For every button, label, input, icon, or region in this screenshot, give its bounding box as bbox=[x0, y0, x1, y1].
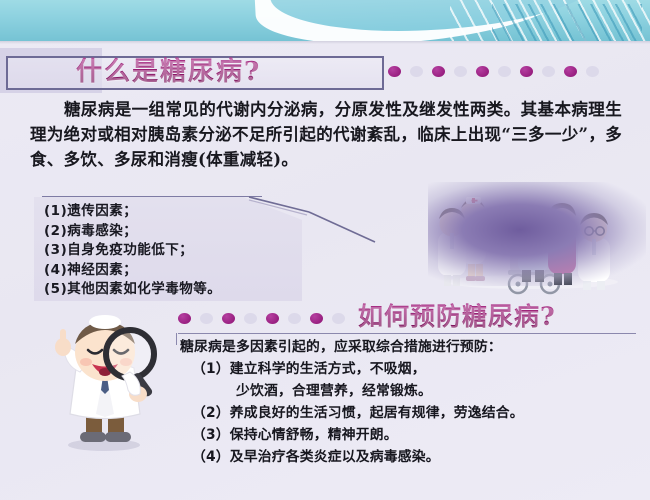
causes-list-item: (4)神经因素； bbox=[44, 261, 304, 281]
prevention-measures-list: （1）建立科学的生活方式，不吸烟， 少饮酒，合理营养，经常锻炼。 （2）养成良好… bbox=[192, 358, 644, 468]
decorative-dot bbox=[410, 66, 423, 77]
decorative-dot bbox=[288, 313, 301, 324]
causes-list-item: (2)病毒感染； bbox=[44, 222, 304, 242]
decorative-dot bbox=[310, 313, 323, 324]
medical-team-illustration bbox=[428, 186, 646, 298]
decorative-dot bbox=[388, 66, 401, 77]
decorative-dot bbox=[432, 66, 445, 77]
section-title-what-is-diabetes: 什么是糖尿病? bbox=[6, 56, 384, 90]
causes-list-item: (5)其他因素如化学毒物等。 bbox=[44, 280, 304, 300]
prevention-measure-item: （3）保持心情舒畅，精神开朗。 bbox=[192, 424, 644, 446]
decorative-dot bbox=[222, 313, 235, 324]
decorative-dot-row-top bbox=[388, 66, 608, 77]
decorative-dot bbox=[564, 66, 577, 77]
decorative-dot bbox=[332, 313, 345, 324]
banner-shadow bbox=[0, 41, 650, 44]
decorative-dot bbox=[454, 66, 467, 77]
decorative-dot bbox=[476, 66, 489, 77]
causes-list: (1)遗传因素； (2)病毒感染； (3)自身免疫功能低下； (4)神经因素； … bbox=[44, 202, 304, 300]
decorative-dot-row-bottom bbox=[178, 313, 354, 324]
prevention-measure-item: （2）养成良好的生活习惯，起居有规律，劳逸结合。 bbox=[192, 402, 644, 424]
title-text: 什么是糖尿病? bbox=[76, 55, 366, 89]
banner-blue-stripes bbox=[492, 4, 642, 41]
prevention-top-rule bbox=[178, 333, 636, 334]
causes-list-item: (3)自身免疫功能低下； bbox=[44, 241, 304, 261]
decorative-dot bbox=[200, 313, 213, 324]
prevention-measure-continuation: 少饮酒，合理营养，经常锻炼。 bbox=[192, 380, 644, 402]
decorative-dot bbox=[542, 66, 555, 77]
causes-list-item: (1)遗传因素； bbox=[44, 202, 304, 222]
causes-panel-top-rule bbox=[42, 196, 262, 197]
decorative-dot bbox=[266, 313, 279, 324]
decorative-dot bbox=[520, 66, 533, 77]
prevention-measure-item: （4）及早治疗各类炎症以及病毒感染。 bbox=[192, 446, 644, 468]
section-title-how-to-prevent: 如何预防糖尿病? bbox=[358, 300, 556, 334]
cartoon-doctor-illustration bbox=[26, 306, 176, 456]
intro-paragraph: 糖尿病是一组常见的代谢内分泌病，分原发性及继发性两类。其基本病理生理为绝对或相对… bbox=[30, 97, 622, 172]
diabetes-health-poster: 什么是糖尿病? 糖尿病是一组常见的代谢内分泌病，分原发性及继发性两类。其基本病理… bbox=[0, 0, 650, 500]
decorative-dot bbox=[586, 66, 599, 77]
decorative-dot bbox=[498, 66, 511, 77]
prevention-lead-text: 糖尿病是多因素引起的，应采取综合措施进行预防： bbox=[180, 336, 640, 358]
prevention-measure-item: （1）建立科学的生活方式，不吸烟， bbox=[192, 358, 644, 380]
top-banner bbox=[0, 0, 650, 41]
prevention-rule-tick bbox=[176, 333, 177, 345]
decorative-dot bbox=[178, 313, 191, 324]
cartoon-doctor-figure bbox=[26, 306, 176, 456]
illustration-glow bbox=[428, 182, 646, 286]
decorative-dot bbox=[244, 313, 257, 324]
